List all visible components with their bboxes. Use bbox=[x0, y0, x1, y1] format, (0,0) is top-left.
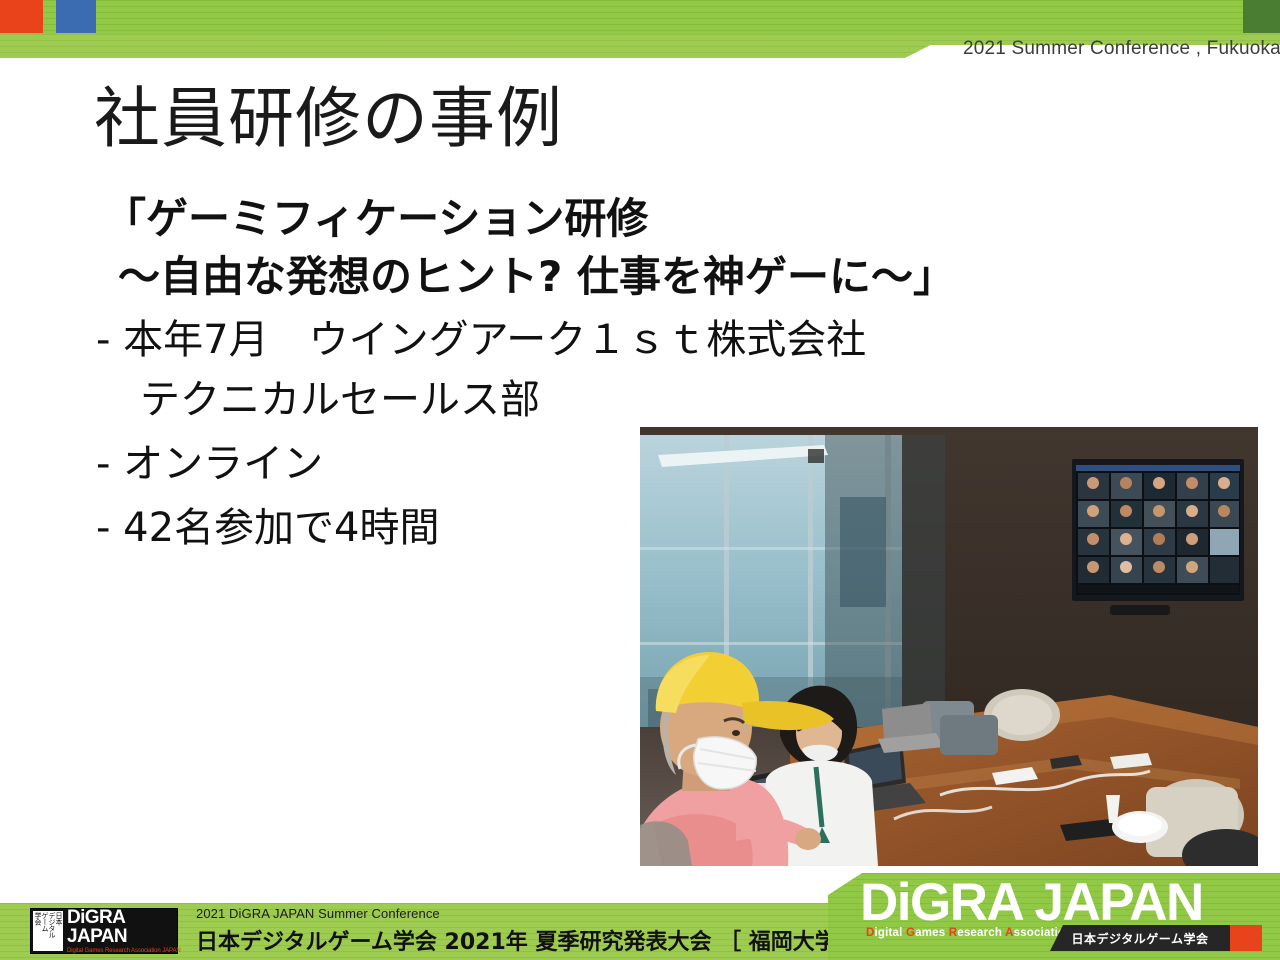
presentation-slide: 2021 Summer Conference , Fukuoka 社員研修の事例… bbox=[0, 0, 1280, 960]
footer-conference-text: 2021 DiGRA JAPAN Summer Conference 日本デジタ… bbox=[196, 906, 866, 956]
footer-english-line: 2021 DiGRA JAPAN Summer Conference bbox=[196, 906, 866, 921]
footer-logo-vtext-2: デジタル bbox=[48, 912, 55, 938]
footer-big-logo-name: DiGRA JAPAN bbox=[860, 876, 1203, 929]
body-line-3: - 本年7月 ウイングアーク１ｓｔ株式会社 bbox=[96, 320, 1114, 360]
footer-logo-name: DiGRA JAPAN bbox=[67, 908, 181, 946]
footer-big-logo-orange-block bbox=[1230, 925, 1262, 951]
header-orange-block bbox=[0, 0, 43, 33]
photo-illustration bbox=[640, 427, 1258, 866]
footer-logo-vtext-1: 日本 bbox=[55, 912, 62, 925]
big-logo-sub-esearch: esearch bbox=[957, 927, 1005, 939]
footer-japanese-line: 日本デジタルゲーム学会 2021年 夏季研究発表大会 ［ 福岡大学 ］ bbox=[196, 924, 866, 956]
big-logo-sub-d: D bbox=[866, 927, 875, 939]
footer-logo-wordmark: DiGRA JAPAN Digital Games Research Assoc… bbox=[63, 908, 181, 954]
body-line-4: テクニカルセールス部 bbox=[140, 380, 1114, 420]
footer-logo-subtitle-japan: JAPAN bbox=[162, 948, 180, 954]
page-title: 社員研修の事例 bbox=[94, 84, 563, 153]
footer-logo-subtitle: Digital Games Research Association JAPAN bbox=[67, 948, 181, 954]
big-logo-sub-a: A bbox=[1005, 927, 1014, 939]
header-dark-green-block bbox=[1243, 0, 1280, 33]
training-photo bbox=[640, 427, 1258, 866]
footer-big-logo-dark-bar: 日本デジタルゲーム学会 bbox=[1050, 925, 1230, 951]
footer-digra-logo-small: 日本 デジタル ゲーム 学会 DiGRA JAPAN Digital Games… bbox=[30, 908, 178, 954]
body-line-1: 「ゲーミフィケーション研修 bbox=[104, 198, 1114, 240]
big-logo-sub-igital: igital bbox=[875, 927, 906, 939]
big-logo-sub-ames: ames bbox=[915, 927, 949, 939]
body-line-2: 〜自由な発想のヒント? 仕事を神ゲーに〜」 bbox=[118, 256, 1114, 298]
footer-big-logo-dark-bar-text: 日本デジタルゲーム学会 bbox=[1072, 930, 1209, 947]
header-conference-label: 2021 Summer Conference , Fukuoka bbox=[963, 38, 1280, 60]
header-blue-block bbox=[56, 0, 96, 33]
footer-logo-vertical-text: 日本 デジタル ゲーム 学会 bbox=[33, 911, 63, 951]
header-green-band bbox=[0, 0, 1280, 34]
footer-logo-vtext-3: ゲーム bbox=[41, 912, 48, 932]
big-logo-sub-r: R bbox=[949, 927, 958, 939]
footer-logo-vtext-4: 学会 bbox=[34, 912, 41, 925]
footer-logo-subtitle-main: Digital Games Research Association bbox=[67, 948, 161, 954]
big-logo-sub-g: G bbox=[906, 927, 915, 939]
